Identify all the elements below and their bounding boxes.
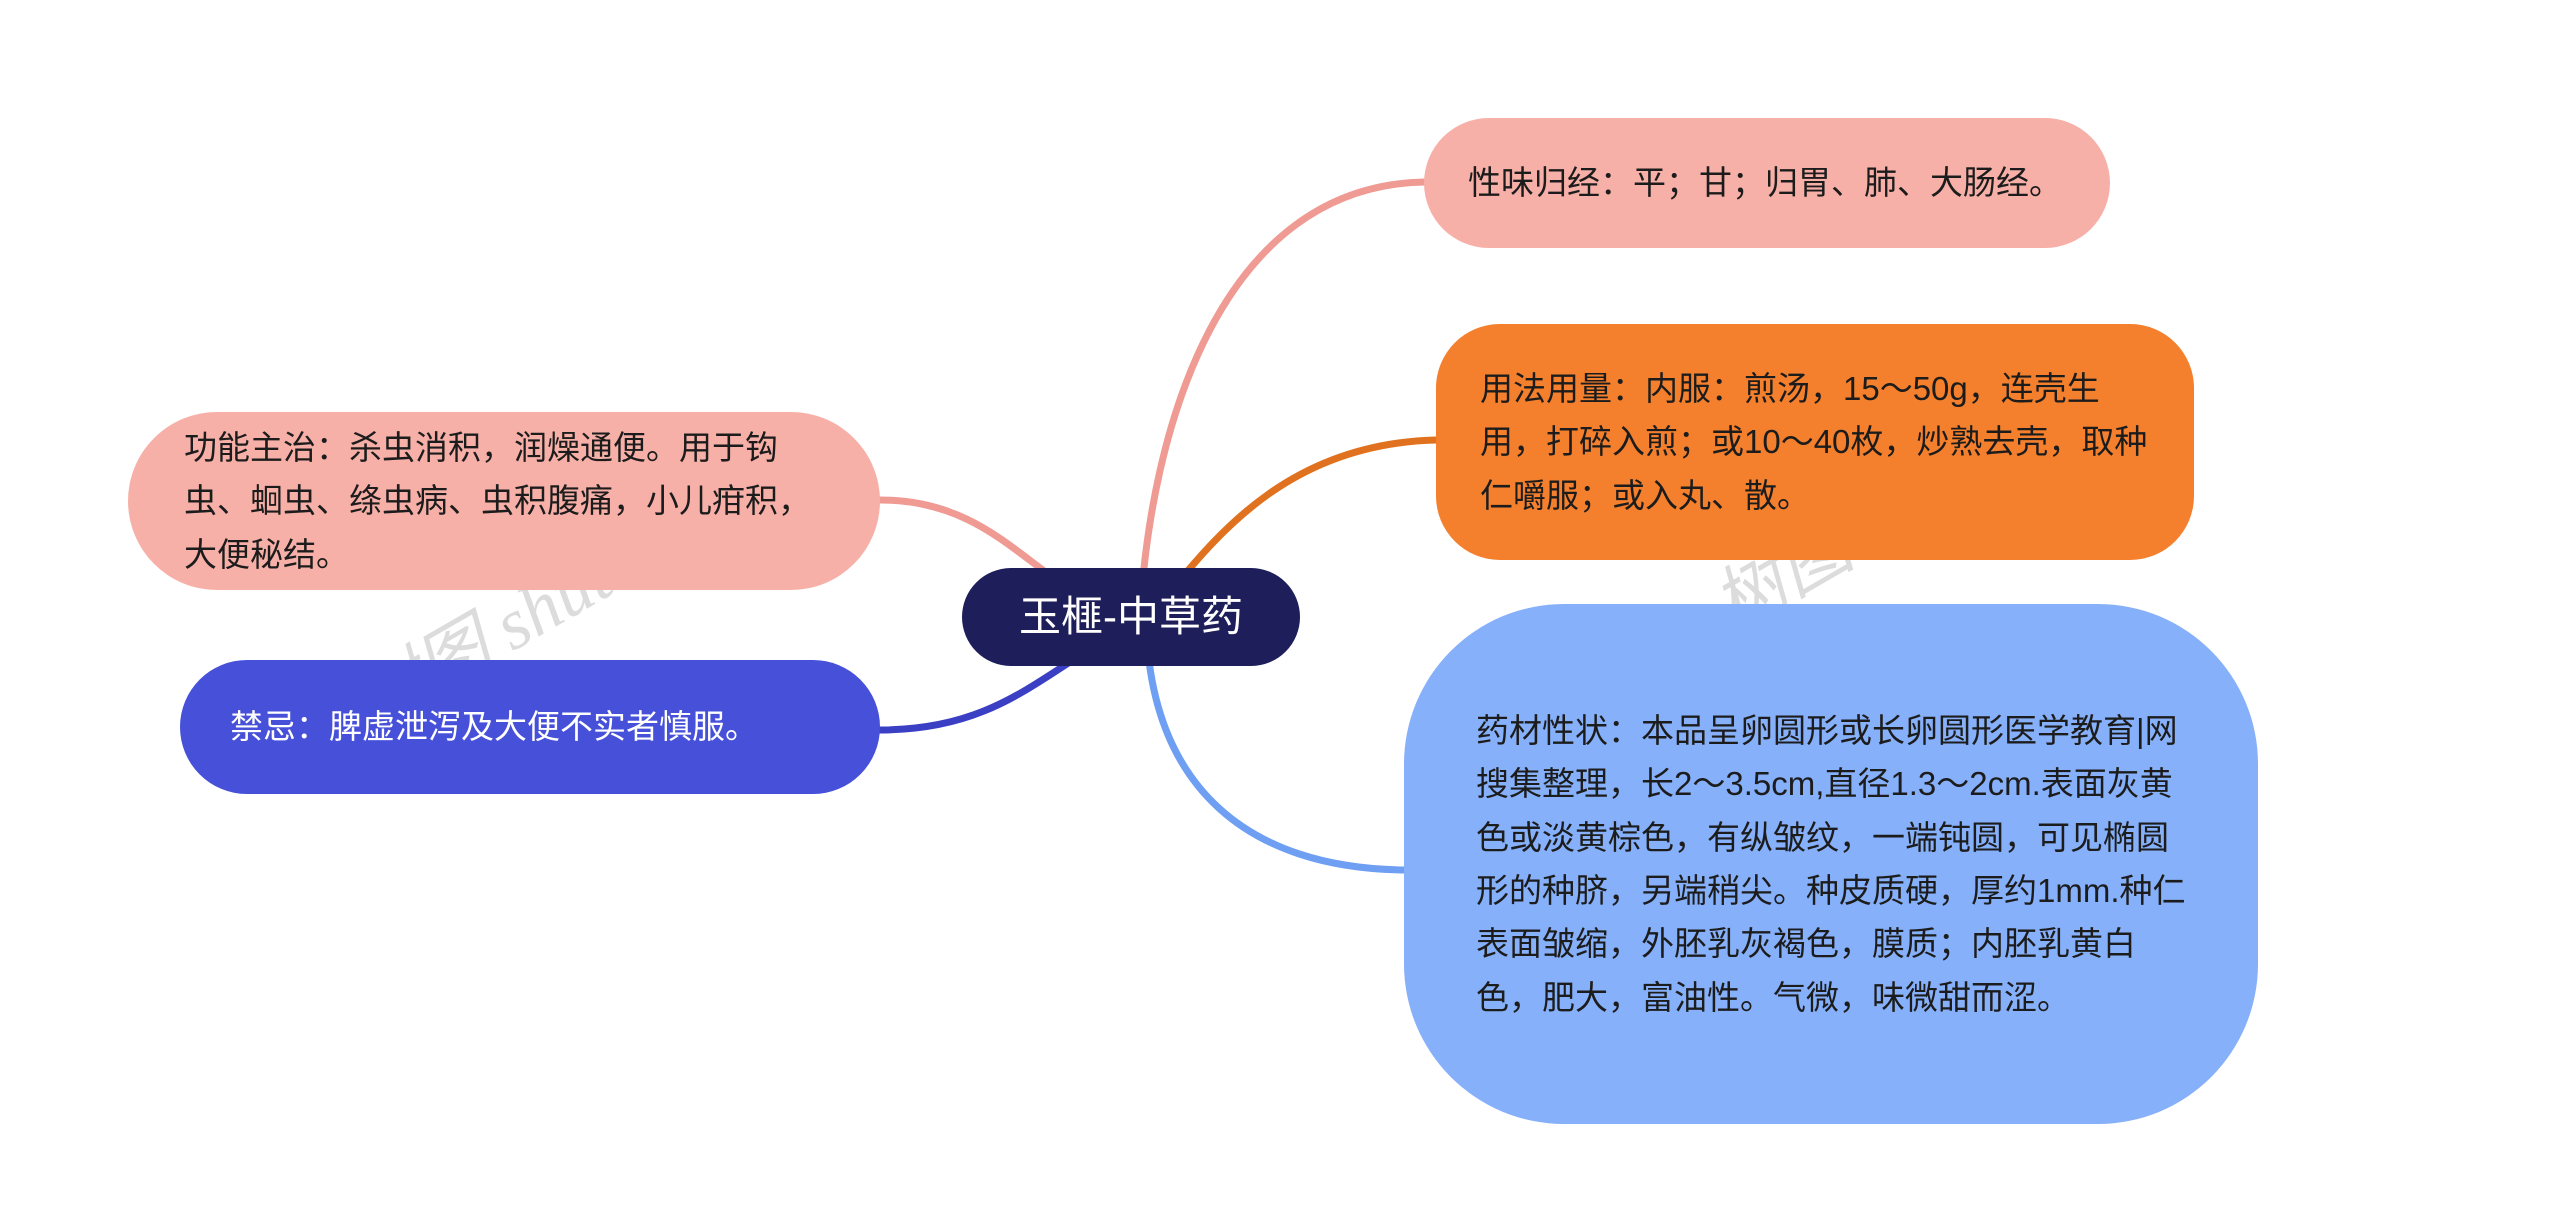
node-medicinal-properties[interactable]: 药材性状：本品呈卵圆形或长卵圆形医学教育|网搜集整理，长2～3.5cm,直径1.… [1404, 604, 2258, 1124]
node-function-indications[interactable]: 功能主治：杀虫消积，润燥通便。用于钩虫、蛔虫、绦虫病、虫积腹痛，小儿疳积，大便秘… [128, 412, 880, 590]
node-taboo-label: 禁忌：脾虚泄泻及大便不实者慎服。 [230, 700, 830, 753]
edge-nature [1140, 182, 1424, 618]
node-dosage-usage[interactable]: 用法用量：内服：煎汤，15～50g，连壳生用，打碎入煎；或10～40枚，炒熟去壳… [1436, 324, 2194, 560]
node-taboo[interactable]: 禁忌：脾虚泄泻及大便不实者慎服。 [180, 660, 880, 794]
node-root-label: 玉榧-中草药 [962, 594, 1300, 640]
node-function-indications-label: 功能主治：杀虫消积，润燥通便。用于钩虫、蛔虫、绦虫病、虫积腹痛，小儿疳积，大便秘… [184, 421, 824, 581]
node-root[interactable]: 玉榧-中草药 [962, 568, 1300, 666]
mindmap-canvas: 树图 shutu.cn 树图 shutu.cn 功能主治：杀虫消积，润燥通便。用… [0, 0, 2560, 1224]
node-medicinal-properties-label: 药材性状：本品呈卵圆形或长卵圆形医学教育|网搜集整理，长2～3.5cm,直径1.… [1476, 704, 2186, 1025]
node-dosage-usage-label: 用法用量：内服：煎汤，15～50g，连壳生用，打碎入煎；或10～40枚，炒熟去壳… [1480, 362, 2150, 522]
node-nature-meridian[interactable]: 性味归经：平；甘；归胃、肺、大肠经。 [1424, 118, 2110, 248]
node-nature-meridian-label: 性味归经：平；甘；归胃、肺、大肠经。 [1468, 156, 2066, 209]
